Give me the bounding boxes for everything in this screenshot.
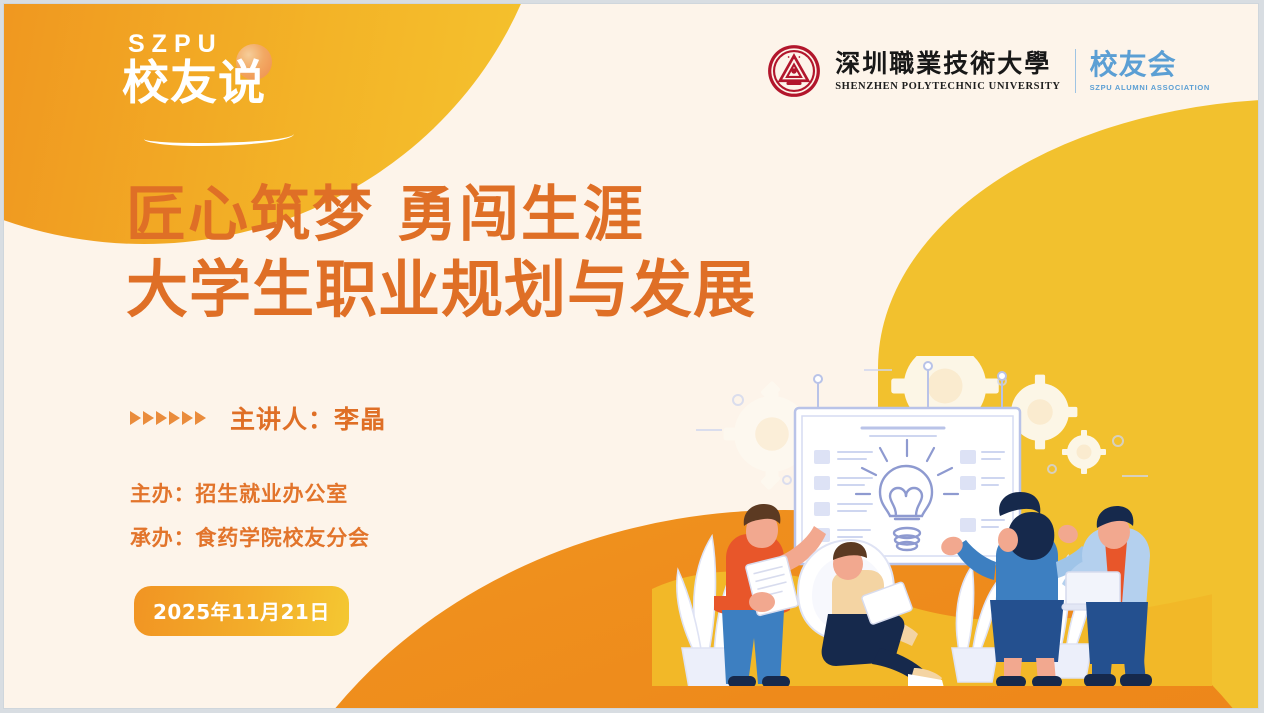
poster-canvas: SZPU 校友说 深圳職業技術大學 SHENZHEN POLYTECHNIC U… [4, 4, 1258, 708]
university-lockup: 深圳職業技術大學 SHENZHEN POLYTECHNIC UNIVERSITY… [767, 44, 1210, 98]
triangle-right-icon [143, 411, 154, 425]
alumni-name-en: SZPU ALUMNI ASSOCIATION [1090, 83, 1210, 92]
organizer-coordinator: 承办：食药学院校友分会 [130, 528, 370, 549]
lockup-divider [1075, 49, 1076, 93]
organizer-host: 主办：招生就业办公室 [130, 484, 370, 505]
brand-logo: SZPU 校友说 [122, 32, 322, 108]
triangle-right-icon [182, 411, 193, 425]
university-name-cn: 深圳職業技術大學 [835, 50, 1060, 78]
arrow-group [130, 411, 206, 425]
triangle-right-icon [169, 411, 180, 425]
brand-logo-en: SZPU [128, 32, 322, 57]
speaker-label: 主讲人：李晶 [230, 400, 386, 436]
university-names: 深圳職業技術大學 SHENZHEN POLYTECHNIC UNIVERSITY [835, 50, 1060, 92]
university-crest-icon [767, 44, 821, 98]
alumni-association-logo: 校友会 SZPU ALUMNI ASSOCIATION [1090, 51, 1210, 92]
triangle-right-icon [195, 411, 206, 425]
triangle-right-icon [156, 411, 167, 425]
page-title: 匠心筑梦 勇闯生涯 大学生职业规划与发展 [126, 179, 756, 328]
title-line-1: 匠心筑梦 勇闯生涯 [126, 179, 756, 252]
university-name-en: SHENZHEN POLYTECHNIC UNIVERSITY [835, 81, 1060, 92]
title-line-2: 大学生职业规划与发展 [126, 252, 756, 328]
alumni-name-cn: 校友会 [1090, 51, 1177, 79]
triangle-right-icon [130, 411, 141, 425]
organizer-block: 主办：招生就业办公室 承办：食药学院校友分会 [130, 484, 370, 572]
teamwork-illustration [652, 356, 1212, 686]
brand-logo-cn: 校友说 [122, 59, 322, 108]
event-date-badge: 2025年11月21日 [134, 586, 349, 636]
speaker-row: 主讲人：李晶 [130, 400, 386, 436]
